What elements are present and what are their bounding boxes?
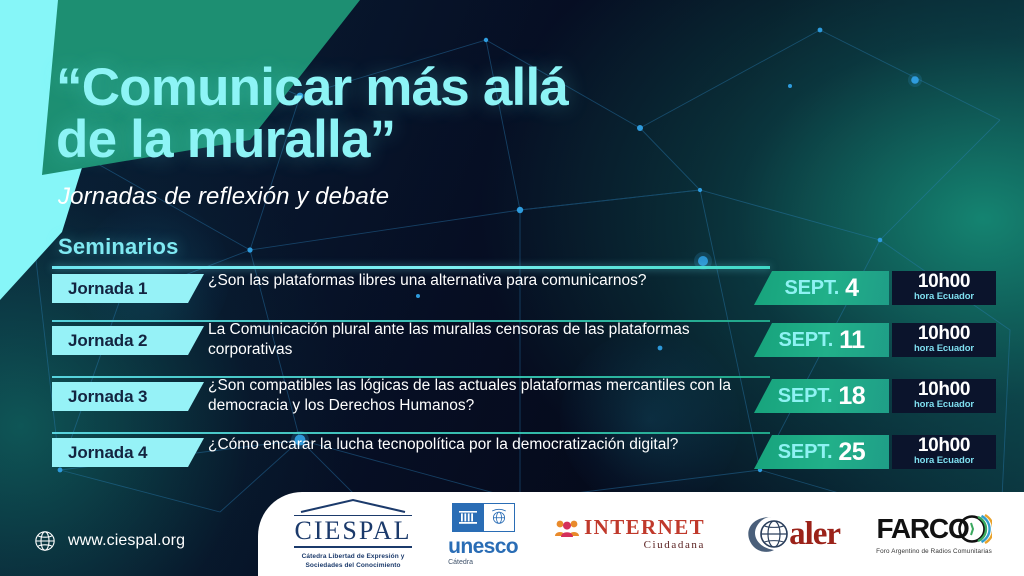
session-row[interactable]: Jornada 2 La Comunicación plural ante la… <box>0 320 1024 376</box>
poster-canvas: “Comunicar más allá de la muralla” Jorna… <box>0 0 1024 576</box>
session-row[interactable]: Jornada 3 ¿Son compatibles las lógicas d… <box>0 376 1024 432</box>
sessions-list: Jornada 1 ¿Son las plataformas libres un… <box>0 268 1024 484</box>
page-subtitle: Jornadas de reflexión y debate <box>58 183 389 211</box>
session-date-badge: SEPT. 25 <box>754 435 889 469</box>
ciespal-tagline-2: Sociedades del Conocimiento <box>305 562 400 571</box>
ciespal-wordmark: CIESPAL <box>294 518 411 544</box>
session-divider <box>52 432 770 434</box>
logo-ciespal: CIESPAL Cátedra Libertad de Expresión y … <box>294 498 412 571</box>
session-time-badge: 10h00 hora Ecuador <box>892 379 996 413</box>
session-badge: Jornada 1 <box>52 274 204 303</box>
internet-wordmark: INTERNET <box>584 517 705 538</box>
session-badge-label: Jornada 3 <box>52 387 147 407</box>
session-title: ¿Son las plataformas libres una alternat… <box>208 271 764 291</box>
session-title: La Comunicación plural ante las murallas… <box>208 320 764 360</box>
session-day: 4 <box>845 274 858 303</box>
session-row[interactable]: Jornada 1 ¿Son las plataformas libres un… <box>0 268 1024 320</box>
logo-aler: aler <box>741 514 840 554</box>
session-badge: Jornada 2 <box>52 326 204 355</box>
session-time: 10h00 <box>918 272 970 291</box>
session-month: SEPT. <box>778 441 833 464</box>
section-heading: Seminarios <box>58 234 179 260</box>
unesco-temple-icon <box>453 504 483 531</box>
session-badge-label: Jornada 4 <box>52 443 147 463</box>
session-timezone: hora Ecuador <box>914 291 974 304</box>
session-title: ¿Son compatibles las lógicas de las actu… <box>208 376 764 416</box>
session-badge-label: Jornada 1 <box>52 279 147 299</box>
logo-internet-ciudadana: INTERNET Ciudadana <box>554 517 705 551</box>
sponsor-logo-bar: CIESPAL Cátedra Libertad de Expresión y … <box>258 492 1024 576</box>
ciespal-tagline-1: Cátedra Libertad de Expresión y <box>302 553 405 562</box>
session-time: 10h00 <box>918 380 970 399</box>
ciudadana-wordmark: Ciudadana <box>644 539 705 551</box>
session-day: 18 <box>838 382 865 411</box>
farco-rings-icon <box>958 513 992 545</box>
unesco-globe-icon <box>483 504 514 531</box>
session-date-badge: SEPT. 4 <box>754 271 889 305</box>
people-group-icon <box>554 518 580 538</box>
title-line-1: “Comunicar más allá <box>56 58 568 117</box>
farco-wordmark: FARCO <box>877 515 969 543</box>
session-month: SEPT. <box>778 385 833 408</box>
unesco-emblem <box>452 503 515 532</box>
farco-row: FARCO <box>877 513 992 545</box>
session-month: SEPT. <box>778 329 833 352</box>
session-time: 10h00 <box>918 324 970 343</box>
divider <box>294 546 412 548</box>
session-row[interactable]: Jornada 4 ¿Cómo encarar la lucha tecnopo… <box>0 432 1024 484</box>
session-day: 25 <box>838 438 865 467</box>
session-time-badge: 10h00 hora Ecuador <box>892 435 996 469</box>
aler-row: aler <box>741 514 840 554</box>
session-time: 10h00 <box>918 436 970 455</box>
website-link[interactable]: www.ciespal.org <box>34 530 185 552</box>
session-day: 11 <box>839 326 864 355</box>
session-badge: Jornada 4 <box>52 438 204 467</box>
globe-icon <box>34 530 56 552</box>
unesco-sub: Cátedra <box>448 559 473 566</box>
website-url: www.ciespal.org <box>68 532 185 550</box>
session-date-badge: SEPT. 18 <box>754 379 889 413</box>
session-badge-label: Jornada 2 <box>52 331 147 351</box>
logo-farco: FARCO Foro Argentino de Radios Comunitar… <box>876 513 992 555</box>
session-timezone: hora Ecuador <box>914 455 974 468</box>
session-badge: Jornada 3 <box>52 382 204 411</box>
session-time-badge: 10h00 hora Ecuador <box>892 323 996 357</box>
aler-wordmark: aler <box>789 518 840 551</box>
unesco-wordmark: unesco <box>448 536 518 557</box>
aler-globe-swoosh-icon <box>741 514 793 554</box>
page-title: “Comunicar más allá de la muralla” <box>56 62 816 166</box>
internet-ciudadana-row: INTERNET <box>554 517 705 538</box>
session-timezone: hora Ecuador <box>914 343 974 356</box>
session-title: ¿Cómo encarar la lucha tecnopolítica por… <box>208 435 764 455</box>
logo-unesco: unesco Cátedra <box>448 503 518 566</box>
session-time-badge: 10h00 hora Ecuador <box>892 271 996 305</box>
ciespal-roof-icon <box>297 498 409 513</box>
session-date-badge: SEPT. 11 <box>754 323 889 357</box>
session-month: SEPT. <box>785 277 840 300</box>
farco-tagline: Foro Argentino de Radios Comunitarias <box>876 548 992 555</box>
title-line-2: de la muralla” <box>56 114 816 166</box>
session-timezone: hora Ecuador <box>914 399 974 412</box>
